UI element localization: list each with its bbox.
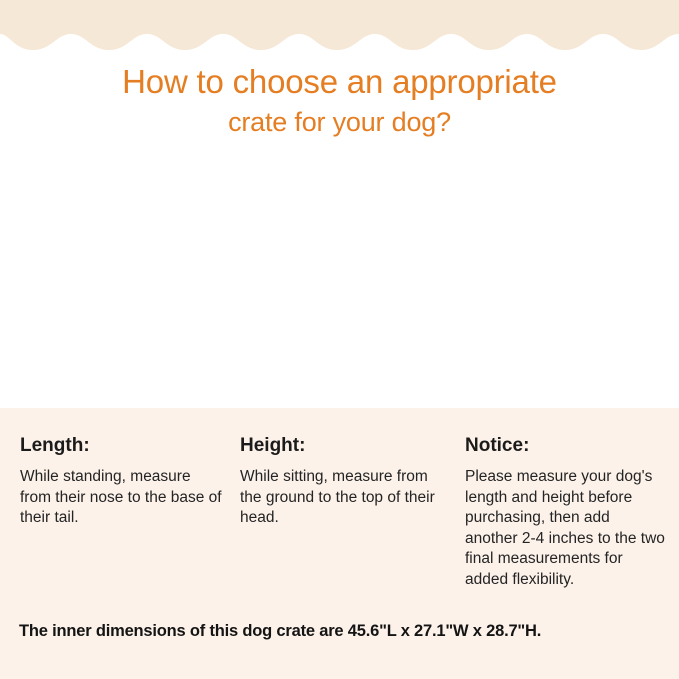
info-column-height: Height: While sitting, measure from the … xyxy=(240,434,445,529)
length-heading: Length: xyxy=(20,434,225,458)
page-title: How to choose an appropriate crate for y… xyxy=(0,62,679,139)
length-body: While standing, measure from their nose … xyxy=(20,467,225,529)
info-panel: Length: While standing, measure from the… xyxy=(0,408,679,679)
height-body: While sitting, measure from the ground t… xyxy=(240,467,445,529)
title-line-2: crate for your dog? xyxy=(0,105,679,139)
height-heading: Height: xyxy=(240,434,445,458)
notice-heading: Notice: xyxy=(465,434,665,458)
info-column-length: Length: While standing, measure from the… xyxy=(20,434,225,529)
info-column-notice: Notice: Please measure your dog's length… xyxy=(465,434,665,590)
notice-body: Please measure your dog's length and hei… xyxy=(465,467,665,590)
infographic-page: How to choose an appropriate crate for y… xyxy=(0,0,679,679)
title-line-1: How to choose an appropriate xyxy=(0,62,679,102)
inner-dimensions-note: The inner dimensions of this dog crate a… xyxy=(19,620,669,642)
header-scallop-band xyxy=(0,0,679,56)
illustration-area: Length Height xyxy=(0,195,679,408)
